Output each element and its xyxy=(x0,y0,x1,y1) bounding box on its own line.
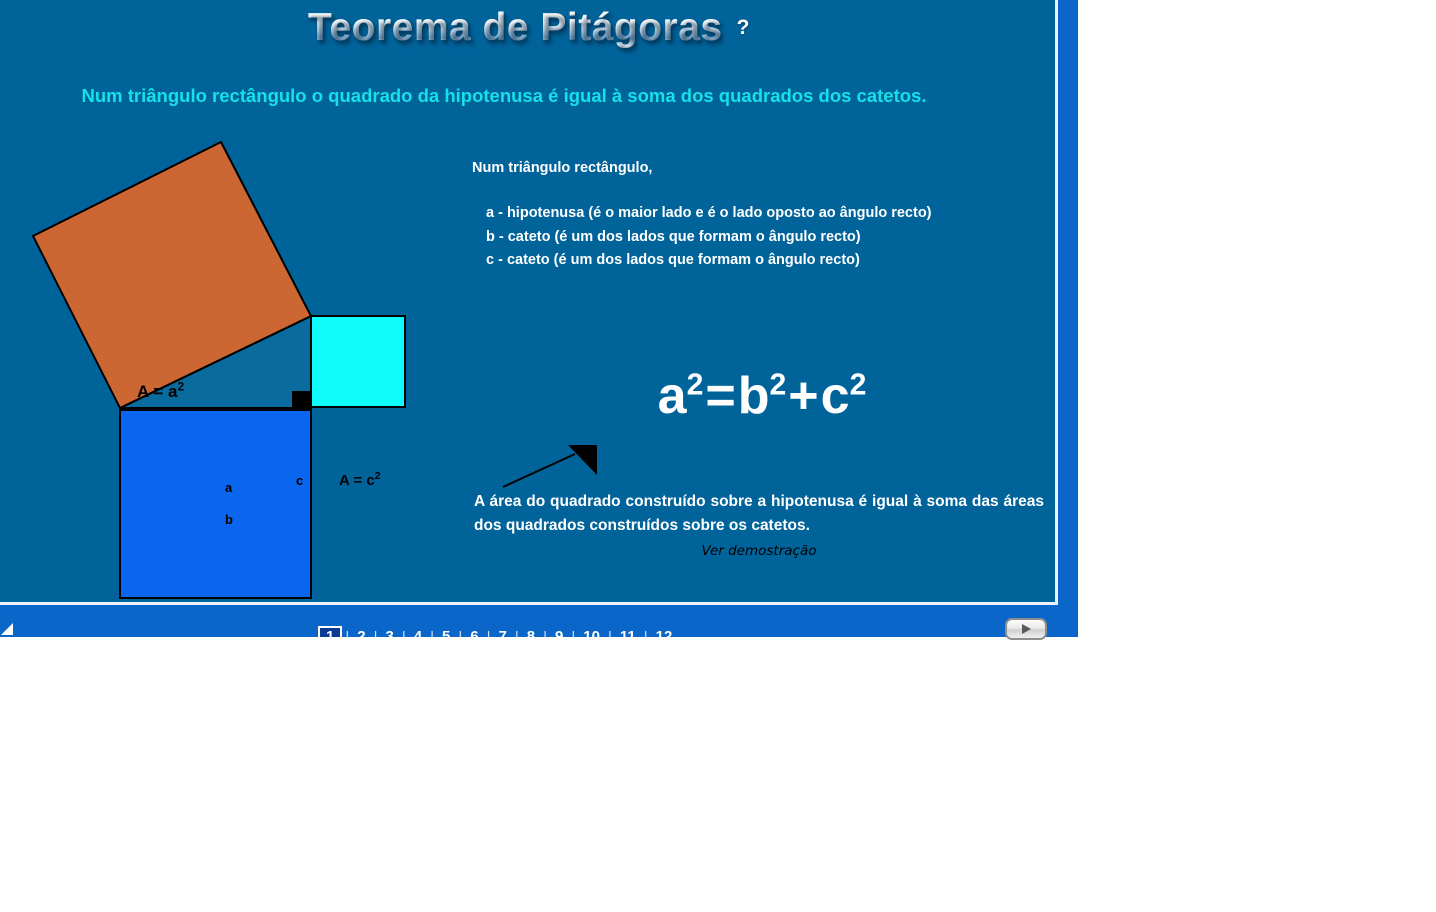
square-a-label: A = a2 xyxy=(137,382,184,402)
definitions-block: Num triângulo rectângulo, a - hipotenusa… xyxy=(472,160,1052,273)
formula-plus: + xyxy=(788,367,818,425)
pager-separator: | xyxy=(371,629,381,638)
side-c-label: c xyxy=(296,473,303,488)
definitions-heading: Num triângulo rectângulo, xyxy=(472,160,1052,176)
page-number-4[interactable]: 4 xyxy=(409,627,427,637)
right-angle-marker xyxy=(292,391,311,408)
page-number-2[interactable]: 2 xyxy=(352,627,370,637)
page-title: Teorema de Pitágoras? xyxy=(0,6,1058,50)
page-title-text: Teorema de Pitágoras xyxy=(308,6,723,49)
pager-separator: | xyxy=(641,629,651,638)
square-on-leg-b xyxy=(120,410,311,598)
slide-canvas: Teorema de Pitágoras? Num triângulo rect… xyxy=(0,0,1058,605)
page-number-11[interactable]: 11 xyxy=(615,627,641,637)
page-number-1[interactable]: 1 xyxy=(318,626,342,637)
help-icon[interactable]: ? xyxy=(737,16,750,39)
page-number-10[interactable]: 10 xyxy=(578,627,605,637)
slide-subtitle: Num triângulo rectângulo o quadrado da h… xyxy=(4,85,1004,107)
ver-demostracao-link[interactable]: Ver demostração xyxy=(474,543,1044,559)
page-number-list: 1 | 2 | 3 | 4 | 5 | 6 | 7 | 8 | 9 | 10 |… xyxy=(318,626,677,637)
pythagoras-svg xyxy=(0,120,440,605)
next-button[interactable] xyxy=(1005,618,1047,640)
definition-item-a: a - hipotenusa (é o maior lado e é o lad… xyxy=(486,202,1052,226)
pager-separator: | xyxy=(484,629,494,638)
side-b-label: b xyxy=(225,512,233,527)
pager-separator: | xyxy=(512,629,522,638)
pager-separator: | xyxy=(342,629,352,638)
pager-separator: | xyxy=(455,629,465,638)
definition-item-c: c - cateto (é um dos lados que formam o … xyxy=(486,249,1052,273)
page-number-6[interactable]: 6 xyxy=(465,627,483,637)
pager-separator: | xyxy=(568,629,578,638)
page-number-12[interactable]: 12 xyxy=(651,627,678,637)
pointer-arrow-icon xyxy=(500,440,620,490)
pager-separator: | xyxy=(399,629,409,638)
conclusion-text: A área do quadrado construído sobre a hi… xyxy=(474,490,1044,538)
definition-item-b: b - cateto (é um dos lados que formam o … xyxy=(486,226,1052,250)
page-number-5[interactable]: 5 xyxy=(437,627,455,637)
page-number-7[interactable]: 7 xyxy=(494,627,512,637)
formula-term-b: b xyxy=(738,367,770,425)
presentation-window: Teorema de Pitágoras? Num triângulo rect… xyxy=(0,0,1078,637)
formula-equals: = xyxy=(705,367,735,425)
pager-separator: | xyxy=(427,629,437,638)
slide-frame: Teorema de Pitágoras? Num triângulo rect… xyxy=(0,0,1062,608)
formula-exp-c: 2 xyxy=(850,369,867,402)
pager-separator: | xyxy=(540,629,550,638)
square-on-leg-c xyxy=(311,316,405,407)
page-number-3[interactable]: 3 xyxy=(381,627,399,637)
page-number-9[interactable]: 9 xyxy=(550,627,568,637)
pythagorean-formula: a2=b2+c2 xyxy=(472,370,1052,422)
navigation-bar: 1 | 2 | 3 | 4 | 5 | 6 | 7 | 8 | 9 | 10 |… xyxy=(0,608,1078,637)
square-c-label: A = c2 xyxy=(339,472,381,489)
formula-term-a: a xyxy=(658,367,687,425)
pager-separator: | xyxy=(605,629,615,638)
formula-term-c: c xyxy=(821,367,850,425)
page-number-8[interactable]: 8 xyxy=(522,627,540,637)
formula-exp-a: 2 xyxy=(687,369,704,402)
pythagoras-diagram: A = a2 A = c2 A = b2 a b c xyxy=(0,120,440,605)
side-a-label: a xyxy=(225,480,232,495)
play-icon xyxy=(1019,623,1033,635)
prev-arrow-icon[interactable] xyxy=(0,622,14,636)
formula-exp-b: 2 xyxy=(769,369,786,402)
